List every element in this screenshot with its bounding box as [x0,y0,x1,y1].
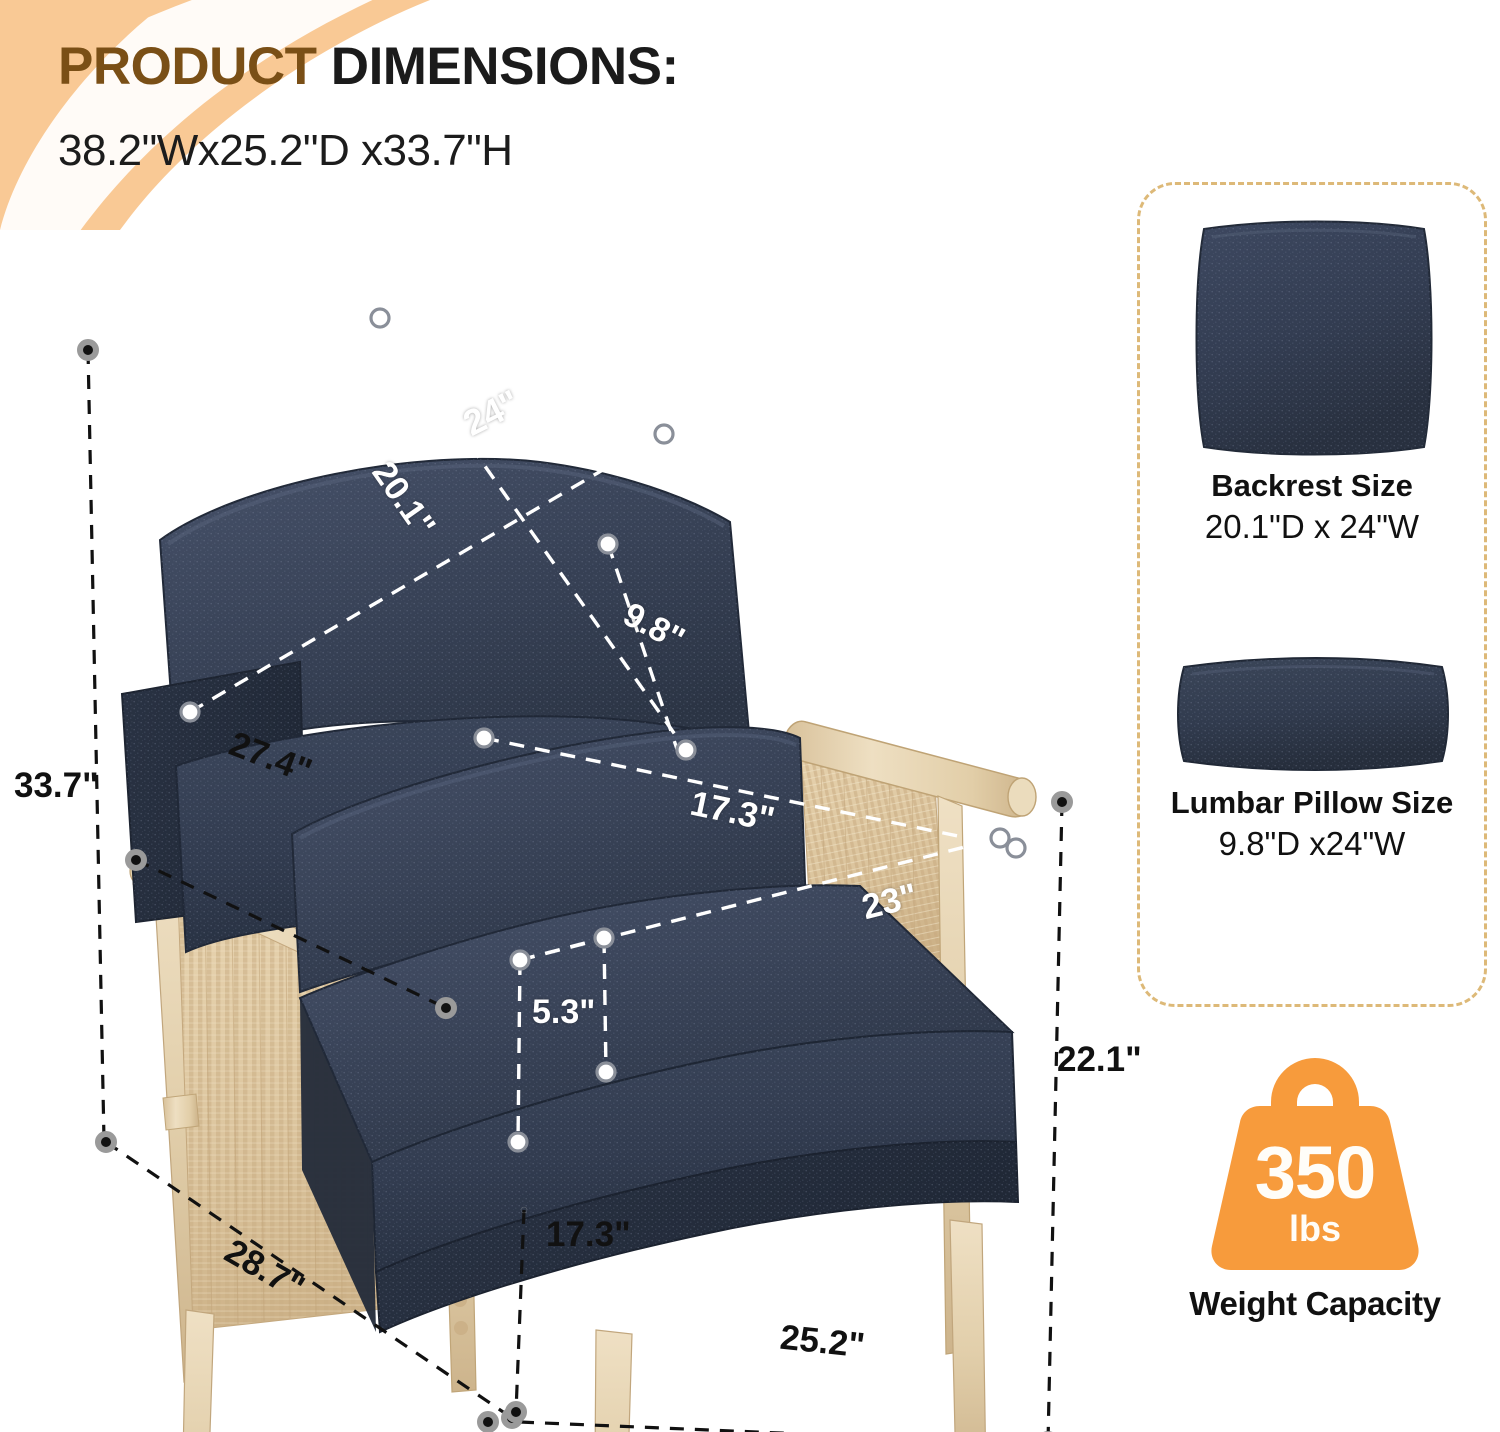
page-title-rest: DIMENSIONS: [317,37,679,96]
dim-label-seat-height: 17.3" [546,1215,631,1255]
page-subtitle: 38.2"Wx25.2"D x33.7"H [58,126,513,176]
backrest-pillow-block: Backrest Size 20.1"D x 24"W [1140,213,1484,546]
backrest-pillow-image [1162,213,1462,463]
backrest-pillow-size: 20.1"D x 24"W [1140,507,1484,547]
dim-label-arm-height: 22.1" [1057,1040,1142,1080]
weight-value: 350 [1150,1130,1480,1215]
weight-capacity-caption: Weight Capacity [1150,1285,1480,1323]
dim-label-overall-height: 33.7" [14,766,99,806]
dim-label-cushion-thickness: 5.3" [532,993,595,1032]
lumbar-pillow-name: Lumbar Pillow Size [1140,785,1484,822]
pillow-specs-panel: Backrest Size 20.1"D x 24"W Lumbar Pillo… [1137,182,1487,1007]
page-title-first-word: PRODUCT [58,37,317,96]
lumbar-pillow-image [1162,645,1462,780]
corner-decoration [0,0,470,230]
lumbar-pillow-block: Lumbar Pillow Size 9.8"D x24"W [1140,645,1484,863]
chair-illustration: 24" 20.1" 9.8" 17.3" 23" 5.3" 33.7" 27.4… [0,210,1140,1432]
page-title: PRODUCT DIMENSIONS: [58,36,679,97]
weight-capacity-block: 350 lbs Weight Capacity [1150,1040,1480,1323]
weight-unit: lbs [1150,1208,1480,1250]
backrest-pillow-name: Backrest Size [1140,468,1484,505]
lumbar-pillow-size: 9.8"D x24"W [1140,824,1484,864]
